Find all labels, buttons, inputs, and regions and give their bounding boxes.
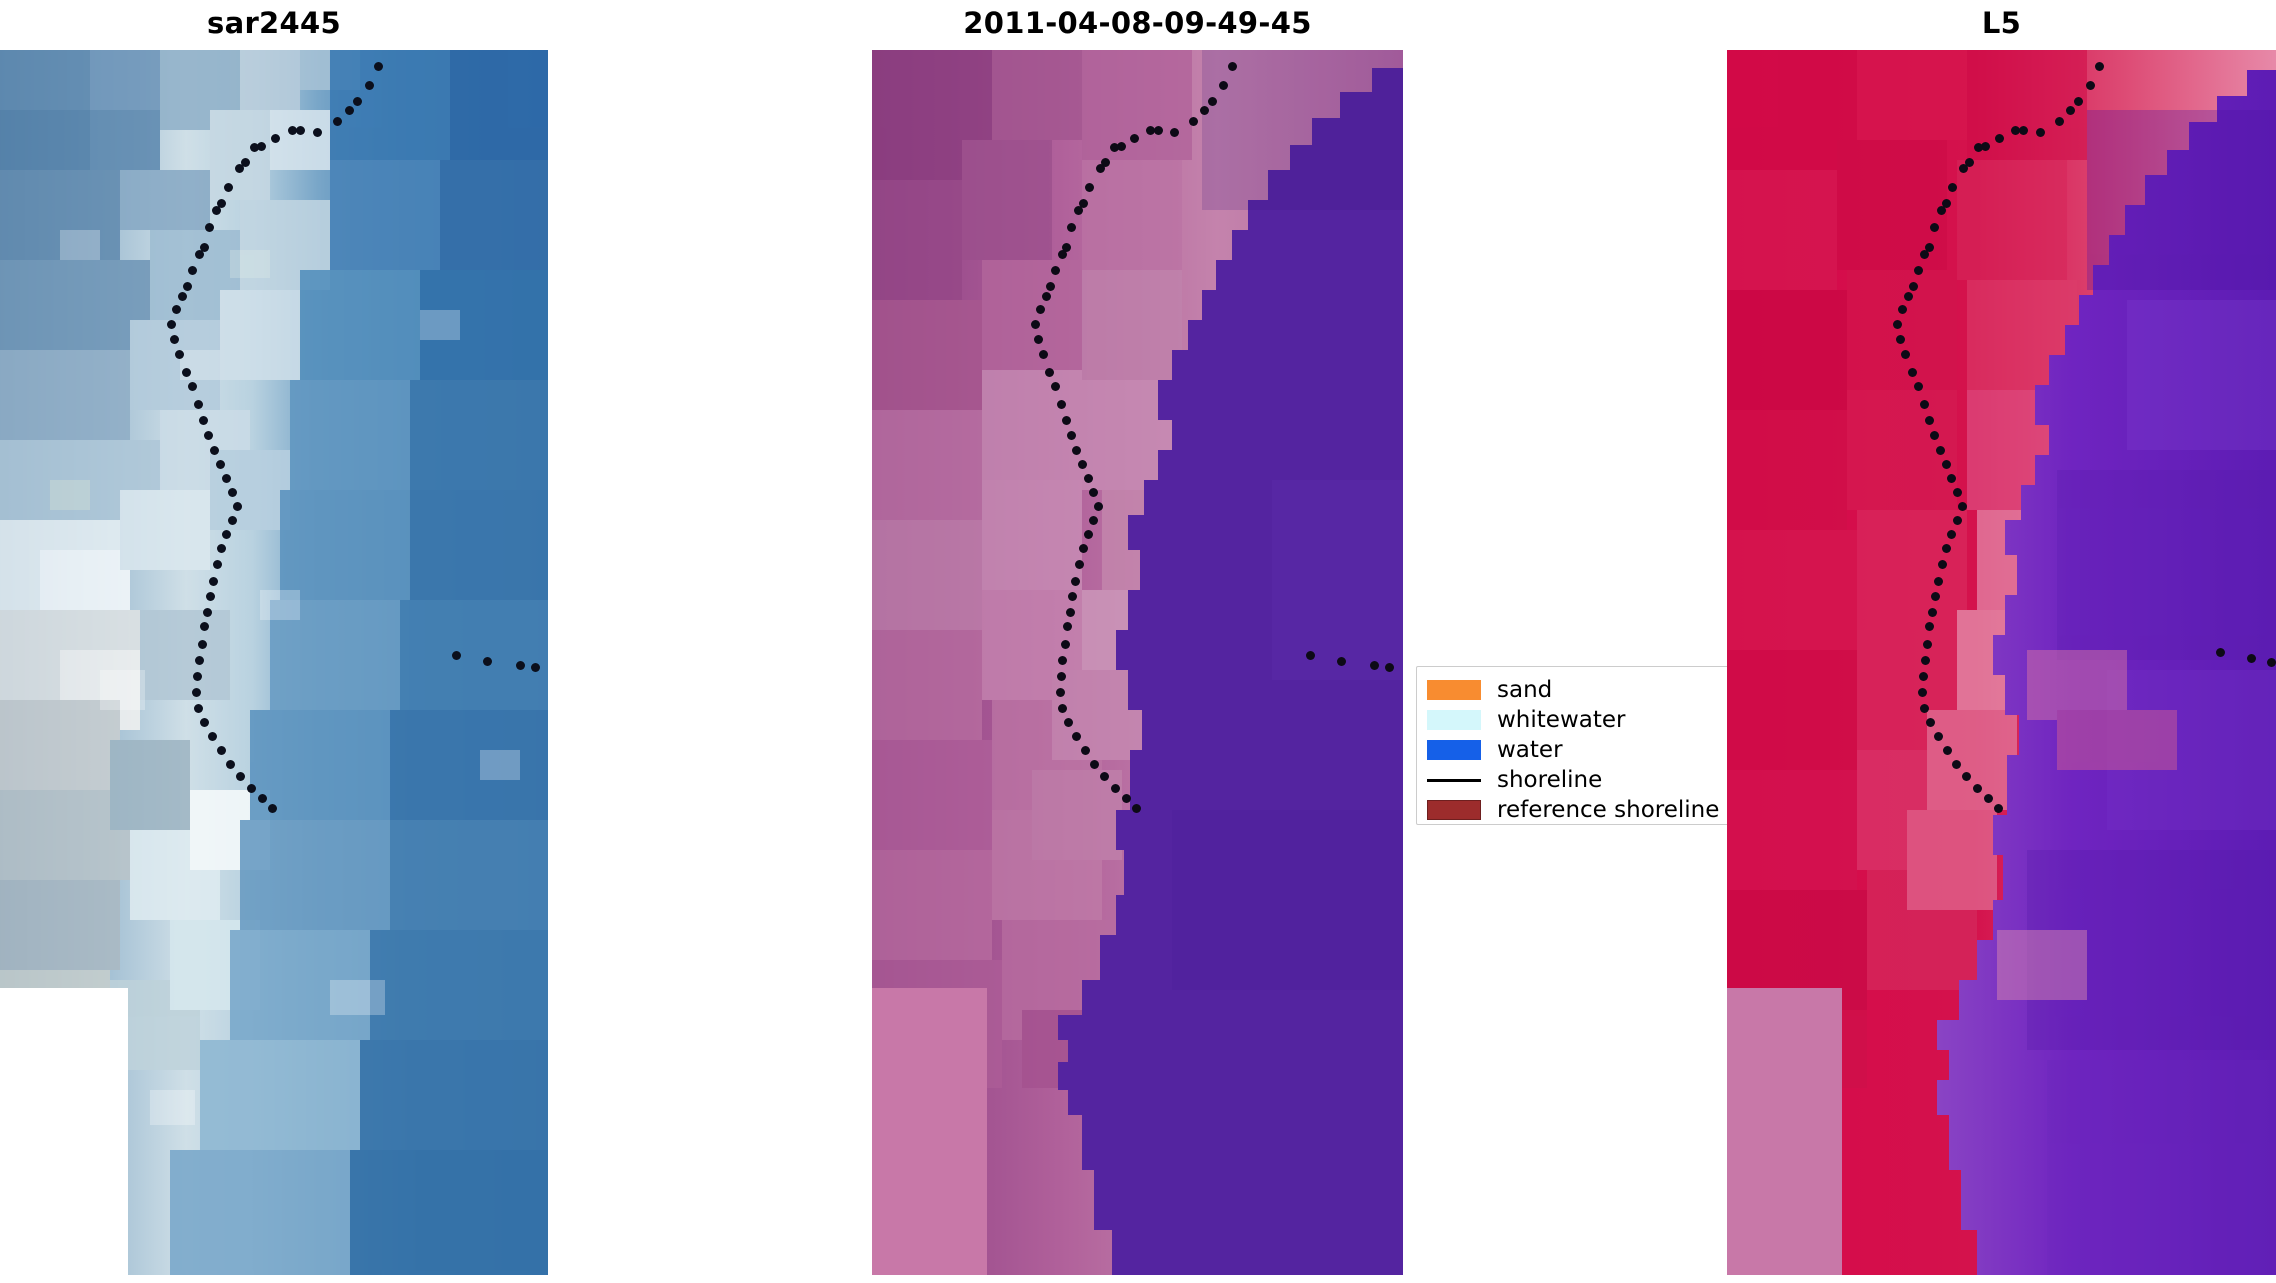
sar-nodata-block [0,988,128,1275]
legend-item-whitewater[interactable]: whitewater [1427,705,1735,735]
whitewater-swatch [1427,710,1481,730]
panel-title-l5: L5 [1727,6,2276,40]
l5-mask-block [1727,988,1842,1275]
legend-label-shoreline: shoreline [1497,769,1602,792]
sand-swatch [1427,680,1481,700]
water-swatch [1427,740,1481,760]
panel-sar-image[interactable] [0,50,548,1275]
legend-item-reference-shoreline-buffer[interactable]: reference shoreline buff [1427,795,1735,825]
legend-label-water: water [1497,739,1563,762]
panel-title-classified: 2011-04-08-09-49-45 [872,6,1403,40]
shoreline-line-marker [1427,770,1481,790]
legend-label-sand: sand [1497,679,1552,702]
reference-shoreline-buffer-swatch [1427,800,1481,820]
classified-mask-block [872,988,987,1275]
legend-label-whitewater: whitewater [1497,709,1625,732]
figure-canvas: sar2445 [0,0,2276,1283]
classified-raster [872,50,1403,1275]
panel-classified-image[interactable] [872,50,1403,1275]
legend-item-shoreline[interactable]: shoreline [1427,765,1735,795]
panel-title-sar: sar2445 [0,6,548,40]
legend-item-water[interactable]: water [1427,735,1735,765]
legend-box[interactable]: sand whitewater water shoreline referenc… [1416,666,1746,825]
legend-item-sand[interactable]: sand [1427,675,1735,705]
panel-l5-image[interactable] [1727,50,2276,1275]
l5-raster [1727,50,2276,1275]
